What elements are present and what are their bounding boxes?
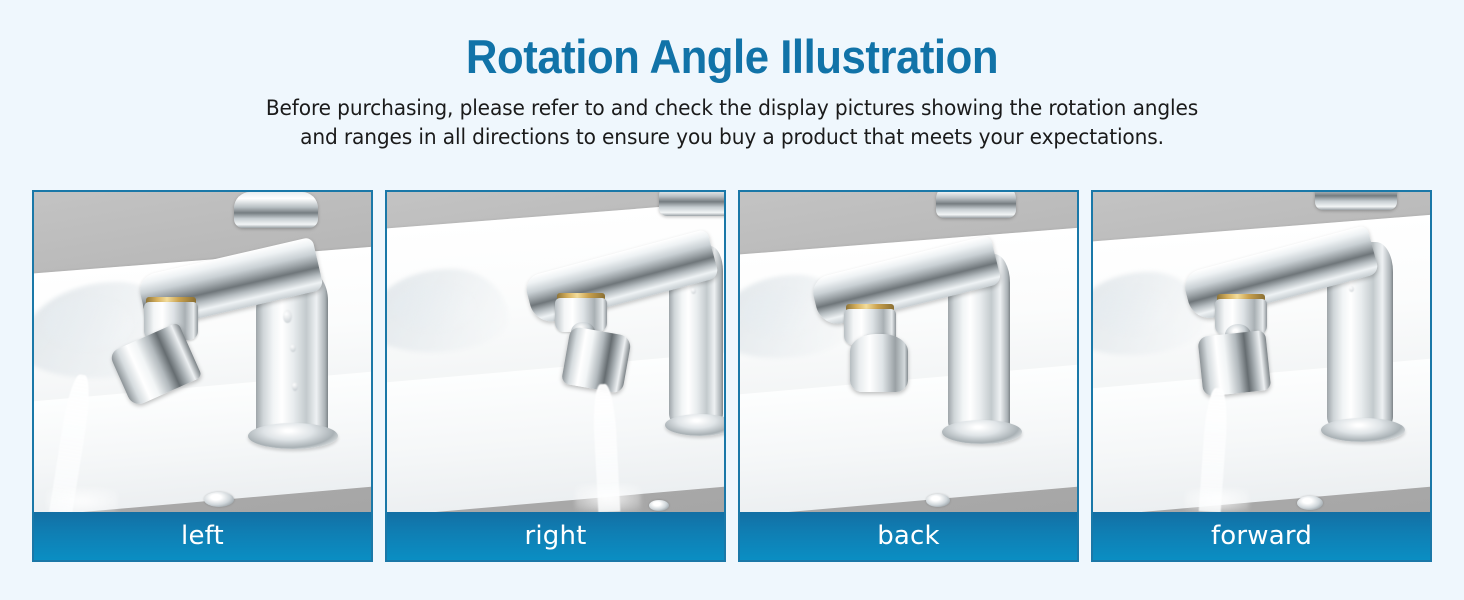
basin-drain [926, 494, 950, 507]
faucet-handle [234, 192, 318, 228]
panel-caption-right: right [387, 512, 724, 560]
bathroom-scene [1093, 192, 1430, 512]
panel-caption-left: left [34, 512, 371, 560]
panel-caption-forward: forward [1093, 512, 1430, 560]
water-splash [1185, 488, 1249, 512]
bathroom-scene [740, 192, 1077, 512]
faucet-photo-right [387, 192, 724, 512]
faucet-photo-back [740, 192, 1077, 512]
faucet-base-ring [248, 423, 338, 449]
basin-drain [204, 492, 234, 507]
water-droplet [1349, 286, 1354, 292]
rotation-angle-illustration-page: Rotation Angle Illustration Before purch… [0, 0, 1464, 600]
water-droplet [691, 288, 696, 294]
water-splash [46, 488, 118, 512]
basin-contour-highlight [394, 285, 475, 330]
basin-drain [1297, 496, 1323, 510]
faucet-base-ring [942, 420, 1022, 444]
subtitle-line-1: Before purchasing, please refer to and c… [161, 94, 1303, 123]
faucet-handle [659, 192, 724, 216]
water-splash [575, 484, 641, 512]
page-header: Rotation Angle Illustration Before purch… [0, 0, 1464, 152]
faucet-handle [1315, 192, 1397, 210]
aerator-head [850, 334, 908, 392]
illustration-panel-row: left [32, 190, 1432, 562]
faucet-photo-left [34, 192, 371, 512]
page-subtitle: Before purchasing, please refer to and c… [137, 80, 1327, 152]
water-droplet [292, 382, 298, 391]
aerator-head [1197, 330, 1271, 397]
basin-contour-highlight [743, 291, 817, 336]
bathroom-scene [387, 192, 724, 512]
basin-drain [649, 500, 669, 511]
faucet-handle [936, 192, 1016, 218]
panel-caption-back: back [740, 512, 1077, 560]
basin-contour-highlight [44, 298, 132, 349]
water-droplet [283, 310, 292, 323]
subtitle-line-2: and ranges in all directions to ensure y… [161, 123, 1303, 152]
illustration-panel-right[interactable]: right [385, 190, 726, 562]
basin-contour-highlight [1096, 288, 1170, 333]
water-droplet [290, 344, 296, 352]
illustration-panel-back[interactable]: back [738, 190, 1079, 562]
bathroom-scene [34, 192, 371, 512]
faucet-base-ring [1321, 418, 1405, 442]
illustration-panel-forward[interactable]: forward [1091, 190, 1432, 562]
faucet-photo-forward [1093, 192, 1430, 512]
page-title: Rotation Angle Illustration [51, 0, 1413, 80]
illustration-panel-left[interactable]: left [32, 190, 373, 562]
aerator-head [561, 326, 632, 394]
